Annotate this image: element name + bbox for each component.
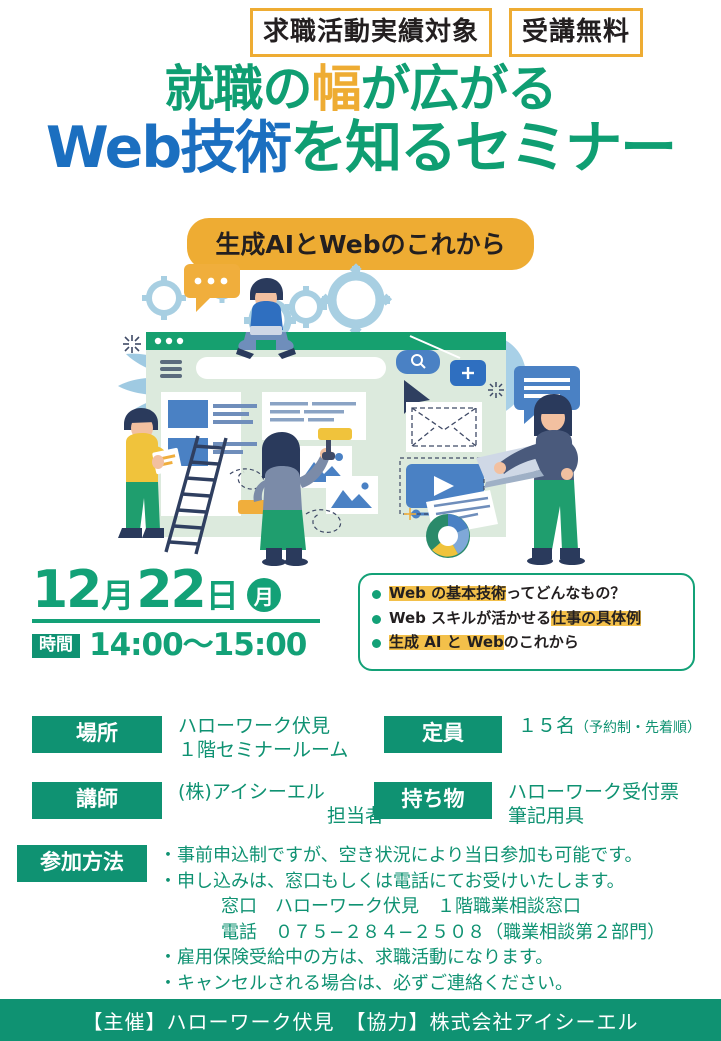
topic-1-rest: ってどんなもの？ [506, 584, 625, 602]
topics-card: Web の基本技術ってどんなもの？ Web スキルが活かせる仕事の具体例 生成 … [358, 573, 695, 671]
value-capacity-number: １５名 [518, 715, 575, 737]
date-day-unit: 日 [205, 579, 241, 615]
headline-block: 就職の幅が広がる Web技術を知るセミナー [0, 64, 721, 177]
topic-2-pre: Web スキルが活かせる [389, 609, 551, 627]
topic-text-1: Web の基本技術ってどんなもの？ [389, 583, 625, 604]
headline-line-1: 就職の幅が広がる [0, 64, 721, 115]
topic-text-2: Web スキルが活かせる仕事の具体例 [389, 608, 641, 629]
join-line-5: ・雇用保険受給中の方は、求職活動になります。 [159, 945, 665, 971]
hamburger-menu-icon [160, 360, 182, 378]
topic-2-highlight: 仕事の具体例 [551, 609, 641, 627]
value-place-line1: ハローワーク伏見 [178, 714, 348, 738]
topic-1-highlight: Web の基本技術 [389, 584, 506, 602]
headline-line1-highlight: 幅 [312, 60, 361, 118]
badge-job-search-credit: 求職活動実績対象 [250, 8, 492, 57]
footer-bar: 【主催】ハローワーク伏見 【協力】株式会社アイシーエル [0, 999, 721, 1041]
topic-text-3: 生成 AI と Webのこれから [389, 632, 579, 653]
web-design-teamwork-illustration [110, 262, 630, 567]
badge-group: 求職活動実績対象 受講無料 [0, 8, 721, 57]
donut-chart-icon [426, 514, 470, 558]
list-item: Web の基本技術ってどんなもの？ [372, 583, 683, 604]
bullet-dot-icon [372, 615, 381, 624]
value-join-method: ・事前申込制ですが、空き状況により当日参加も可能です。 ・申し込みは、窓口もしく… [159, 843, 665, 996]
info-row-bring: 持ち物 ハローワーク受付票 筆記用具 [374, 780, 679, 829]
date-weekday-badge: 月 [247, 578, 281, 612]
label-place: 場所 [32, 716, 162, 753]
headline-line1-pre: 就職の [165, 60, 312, 118]
time-row: 時間 14:00〜15:00 [32, 630, 332, 661]
badge-free-attendance: 受講無料 [509, 8, 643, 57]
label-lecturer: 講師 [32, 782, 162, 819]
footer-text: 【主催】ハローワーク伏見 【協力】株式会社アイシーエル [83, 1006, 639, 1035]
value-lecturer-line2: 担当者 [178, 804, 384, 828]
value-capacity: １５名（予約制・先着順） [518, 714, 701, 738]
value-place-line2: １階セミナールーム [178, 738, 348, 762]
join-line-4: 電話 ０７５−２８４−２５０８（職業相談第２部門） [159, 920, 665, 946]
date-month-number: 12 [32, 566, 100, 615]
bullet-dot-icon [372, 639, 381, 648]
info-row-capacity: 定員 １５名（予約制・先着順） [384, 714, 701, 753]
info-row-lecturer: 講師 (株)アイシーエル 担当者 [32, 780, 384, 829]
date-line: 12 月 22 日 月 [32, 566, 332, 615]
value-capacity-note: （予約制・先着順） [575, 720, 701, 736]
topic-3-highlight: 生成 AI と Web [389, 633, 504, 651]
date-month-unit: 月 [100, 579, 136, 615]
value-bring: ハローワーク受付票 筆記用具 [508, 780, 679, 829]
date-block: 12 月 22 日 月 時間 14:00〜15:00 [32, 566, 332, 661]
label-bring: 持ち物 [374, 782, 492, 819]
bullet-dot-icon [372, 590, 381, 599]
value-bring-line1: ハローワーク受付票 [508, 780, 679, 804]
topic-3-rest: のこれから [504, 633, 579, 651]
speech-bubble-orange-icon [184, 264, 240, 312]
flyer-page: 求職活動実績対象 受講無料 就職の幅が広がる Web技術を知るセミナー 生成AI… [0, 0, 721, 1041]
value-lecturer: (株)アイシーエル 担当者 [178, 780, 384, 829]
label-join-method: 参加方法 [17, 845, 147, 882]
value-bring-line2: 筆記用具 [508, 804, 679, 828]
join-line-2: ・申し込みは、窓口もしくは電話にてお受けいたします。 [159, 869, 665, 895]
info-row-place: 場所 ハローワーク伏見 １階セミナールーム [32, 714, 348, 763]
time-value: 14:00〜15:00 [89, 630, 306, 661]
label-capacity: 定員 [384, 716, 502, 753]
join-line-6: ・キャンセルされる場合は、必ずご連絡ください。 [159, 971, 665, 997]
info-row-join: 参加方法 ・事前申込制ですが、空き状況により当日参加も可能です。 ・申し込みは、… [17, 843, 665, 996]
headline-line1-post: が広がる [361, 60, 557, 118]
headline-line-2: Web技術を知るセミナー [0, 119, 721, 177]
join-line-3: 窓口 ハローワーク伏見 １階職業相談窓口 [159, 894, 581, 920]
time-label-chip: 時間 [32, 634, 80, 658]
join-line-1: ・事前申込制ですが、空き状況により当日参加も可能です。 [159, 843, 665, 869]
headline-line2-green: を知るセミナー [290, 115, 675, 181]
list-item: Web スキルが活かせる仕事の具体例 [372, 608, 683, 629]
list-item: 生成 AI と Webのこれから [372, 632, 683, 653]
date-day-number: 22 [136, 566, 204, 615]
headline-line2-blue: Web技術 [46, 115, 290, 181]
value-lecturer-line1: (株)アイシーエル [178, 780, 384, 804]
value-place: ハローワーク伏見 １階セミナールーム [178, 714, 348, 763]
